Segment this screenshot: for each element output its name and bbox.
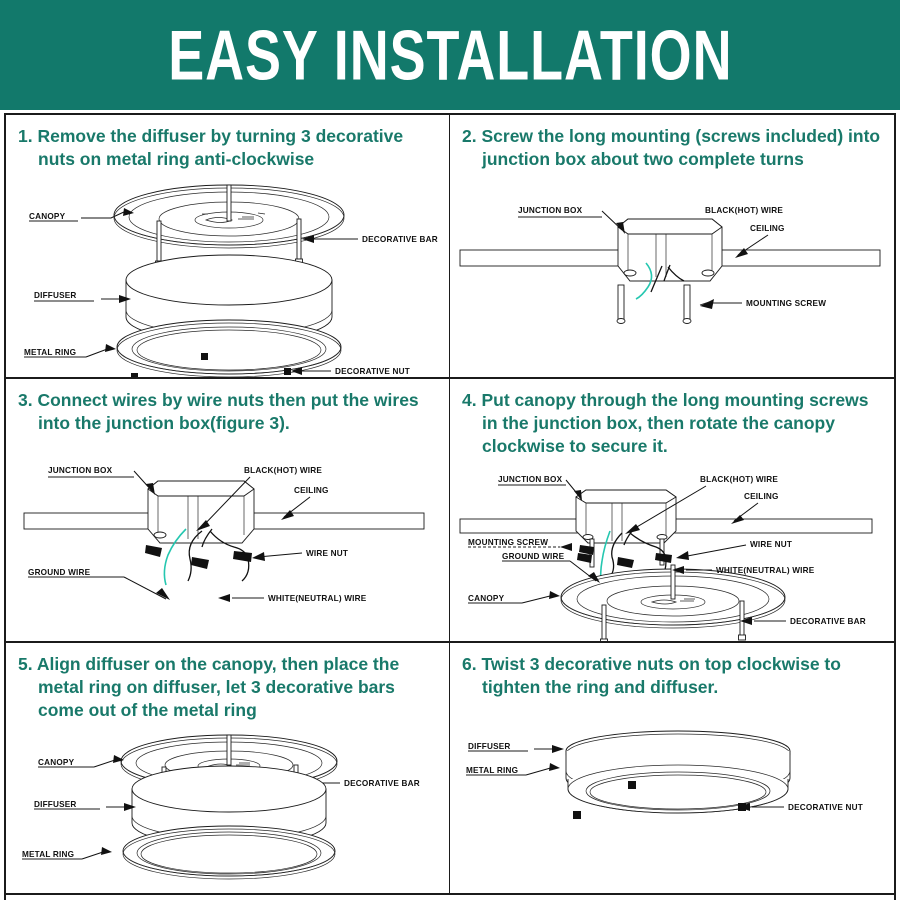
ceiling-part bbox=[460, 250, 880, 266]
label-diffuser-6: DIFFUSER bbox=[468, 742, 511, 751]
ceiling-label-leader bbox=[281, 497, 310, 520]
decorative-bars bbox=[601, 565, 746, 643]
step-4-instruction: Put canopy through the long mounting scr… bbox=[481, 390, 868, 456]
label-canopy-4: CANOPY bbox=[468, 594, 505, 603]
decorative-bar-leader-4 bbox=[740, 617, 786, 625]
label-junction-box-4: JUNCTION BOX bbox=[498, 475, 563, 484]
label-white-neutral-wire-3: WHITE(NEUTRAL) WIRE bbox=[268, 594, 367, 603]
label-diffuser-1: DIFFUSER bbox=[34, 291, 77, 300]
ground-wire-leader bbox=[28, 577, 170, 600]
step-4-number: 4. bbox=[462, 390, 477, 410]
step-2-text: 2. Screw the long mounting (screws inclu… bbox=[462, 125, 882, 171]
ground-wire-leader bbox=[502, 561, 600, 583]
step-1-instruction: Remove the diffuser by turning 3 decorat… bbox=[37, 126, 403, 169]
decorative-nut-label-leader-6 bbox=[738, 803, 784, 811]
page-title: EASY INSTALLATION bbox=[168, 14, 732, 96]
junction-box-part bbox=[148, 481, 254, 543]
label-ceiling-4: CEILING bbox=[744, 492, 779, 501]
label-decorative-bar-4: DECORATIVE BAR bbox=[790, 617, 866, 626]
label-canopy-5: CANOPY bbox=[38, 758, 75, 767]
ceiling-part bbox=[460, 519, 872, 533]
canopy-part bbox=[114, 185, 344, 248]
canopy-label-leader-4 bbox=[468, 591, 560, 603]
step-2-number: 2. bbox=[462, 126, 477, 146]
step-1-text: 1. Remove the diffuser by turning 3 deco… bbox=[18, 125, 437, 171]
diffuser-label-leader-5 bbox=[34, 803, 136, 811]
label-ceiling-3: CEILING bbox=[294, 486, 329, 495]
black-hot-wire-leader bbox=[625, 486, 706, 534]
label-junction-box-2: JUNCTION BOX bbox=[518, 206, 583, 215]
label-decorative-nut-6: DECORATIVE NUT bbox=[788, 803, 863, 812]
label-mounting-screw-4: MOUNTING SCREW bbox=[468, 538, 548, 547]
label-decorative-bar-5: DECORATIVE BAR bbox=[344, 779, 420, 788]
label-canopy-1: CANOPY bbox=[29, 212, 66, 221]
junction-box-part bbox=[618, 219, 722, 281]
label-wire-nut-4: WIRE NUT bbox=[750, 540, 792, 549]
label-ground-wire-3: GROUND WIRE bbox=[28, 568, 91, 577]
wiring bbox=[601, 531, 666, 583]
decorative-bars bbox=[156, 185, 303, 266]
wiring bbox=[164, 529, 248, 585]
junction-box-part bbox=[576, 490, 676, 543]
label-white-neutral-wire-4: WHITE(NEUTRAL) WIRE bbox=[716, 566, 815, 575]
label-black-hot-wire-4: BLACK(HOT) WIRE bbox=[700, 475, 778, 484]
step-6-number: 6. bbox=[462, 654, 477, 674]
label-diffuser-5: DIFFUSER bbox=[34, 800, 77, 809]
decorative-nuts bbox=[131, 353, 291, 377]
mounting-screw-leader bbox=[468, 543, 572, 551]
wires bbox=[636, 263, 684, 299]
wire-nut-leader bbox=[252, 552, 302, 561]
label-metal-ring-5: METAL RING bbox=[22, 850, 74, 859]
step-panel-1: 1. Remove the diffuser by turning 3 deco… bbox=[6, 115, 450, 379]
step-5-text: 5. Align diffuser on the canopy, then pl… bbox=[18, 653, 437, 722]
decorative-bars bbox=[162, 735, 298, 799]
decorative-nuts bbox=[573, 781, 746, 819]
steps-grid: 1. Remove the diffuser by turning 3 deco… bbox=[4, 113, 896, 900]
installation-guide-page: EASY INSTALLATION 1. Remove the diffuser… bbox=[0, 0, 900, 900]
canopy-label-leader bbox=[29, 208, 134, 221]
step-panel-4: 4. Put canopy through the long mounting … bbox=[450, 379, 894, 643]
wire-nut-leader-4 bbox=[676, 545, 746, 560]
assembled-fixture-part bbox=[566, 731, 790, 813]
label-black-hot-wire-3: BLACK(HOT) WIRE bbox=[244, 466, 322, 475]
label-decorative-bar-1: DECORATIVE BAR bbox=[362, 235, 438, 244]
white-neutral-wire-leader bbox=[218, 594, 264, 602]
step-panel-2: 2. Screw the long mounting (screws inclu… bbox=[450, 115, 894, 379]
junction-box-label-leader bbox=[498, 480, 582, 501]
step-panel-3: 3. Connect wires by wire nuts then put t… bbox=[6, 379, 450, 643]
label-ground-wire-4: GROUND WIRE bbox=[502, 552, 565, 561]
white-neutral-wire-leader-4 bbox=[672, 566, 712, 574]
mounting-screws bbox=[617, 285, 691, 324]
step-2-instruction: Screw the long mounting (screws included… bbox=[481, 126, 880, 169]
metal-ring-part bbox=[117, 320, 341, 377]
ceiling-label-leader bbox=[731, 503, 758, 524]
step-3-number: 3. bbox=[18, 390, 33, 410]
wire-nuts bbox=[577, 545, 672, 568]
step-3-text: 3. Connect wires by wire nuts then put t… bbox=[18, 389, 437, 435]
junction-box-label-leader bbox=[48, 471, 155, 495]
metal-ring-label-leader-5 bbox=[22, 847, 112, 859]
label-black-hot-wire-2: BLACK(HOT) WIRE bbox=[705, 206, 783, 215]
mounting-screws bbox=[590, 539, 664, 567]
step-4-text: 4. Put canopy through the long mounting … bbox=[462, 389, 882, 458]
diffuser-label-leader bbox=[34, 295, 131, 303]
ceiling-label-leader bbox=[735, 235, 768, 258]
step-5-instruction: Align diffuser on the canopy, then place… bbox=[37, 654, 399, 720]
black-hot-wire-leader bbox=[196, 477, 250, 531]
step-panel-5: 5. Align diffuser on the canopy, then pl… bbox=[6, 643, 450, 895]
canopy-label-leader-5 bbox=[38, 755, 124, 767]
mounting-screw-label-leader bbox=[700, 299, 742, 309]
metal-ring-part bbox=[123, 826, 335, 879]
step-panel-6: 6. Twist 3 decorative nuts on top clockw… bbox=[450, 643, 894, 895]
junction-box-label-leader bbox=[518, 211, 625, 234]
step-1-number: 1. bbox=[18, 126, 33, 146]
diffuser-label-leader-6 bbox=[468, 745, 564, 753]
decorative-bar-label-leader bbox=[302, 235, 358, 243]
label-mounting-screw-2: MOUNTING SCREW bbox=[746, 299, 826, 308]
decorative-bar-leader-5 bbox=[294, 779, 340, 787]
canopy-part bbox=[121, 735, 337, 790]
metal-ring-label-leader bbox=[24, 344, 116, 357]
step-3-instruction: Connect wires by wire nuts then put the … bbox=[37, 390, 418, 433]
label-ceiling-2: CEILING bbox=[750, 224, 785, 233]
step-6-text: 6. Twist 3 decorative nuts on top clockw… bbox=[462, 653, 882, 699]
metal-ring-label-leader-6 bbox=[466, 763, 560, 775]
label-wire-nut-3: WIRE NUT bbox=[306, 549, 348, 558]
decorative-nut-label-leader bbox=[291, 367, 331, 375]
wire-nuts bbox=[145, 545, 252, 569]
diffuser-part bbox=[126, 255, 332, 342]
label-metal-ring-6: METAL RING bbox=[466, 766, 518, 775]
label-metal-ring-1: METAL RING bbox=[24, 348, 76, 357]
ceiling-part bbox=[24, 513, 424, 529]
step-5-number: 5. bbox=[18, 654, 33, 674]
step-6-instruction: Twist 3 decorative nuts on top clockwise… bbox=[481, 654, 840, 697]
diffuser-part bbox=[132, 766, 326, 846]
label-decorative-nut-1: DECORATIVE NUT bbox=[335, 367, 410, 376]
canopy-part bbox=[561, 569, 785, 628]
label-junction-box-3: JUNCTION BOX bbox=[48, 466, 113, 475]
page-header: EASY INSTALLATION bbox=[0, 0, 900, 110]
